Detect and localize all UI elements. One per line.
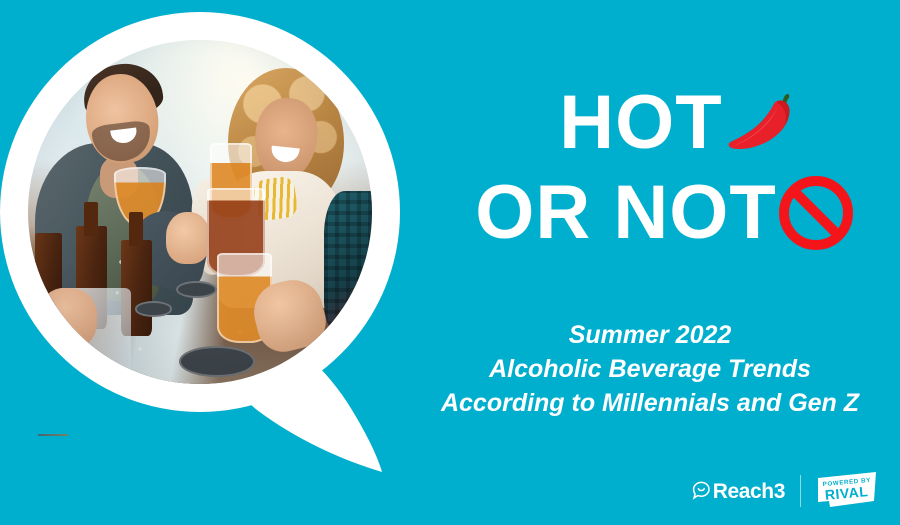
prohibited-icon	[777, 174, 855, 252]
headline-hot-text: HOT	[559, 88, 722, 158]
rival-logo: POWERED BY RIVAL	[816, 471, 878, 511]
subtitle-line-1: Summer 2022	[400, 318, 900, 352]
chili-pepper-icon	[725, 90, 799, 156]
slide-canvas: HOT OR NOT Summer 2022 Alcoholic Beverag…	[0, 0, 900, 525]
headline-line-2: OR NOT	[430, 174, 900, 252]
logo-lockup: Reach3 POWERED BY RIVAL	[692, 471, 878, 511]
reach3-logo: Reach3	[692, 481, 785, 502]
hero-photo	[28, 40, 372, 384]
headline-or-not-text: OR NOT	[475, 178, 777, 248]
reach3-wordmark: Reach3	[713, 481, 785, 502]
speech-bubble-smile-icon	[692, 481, 711, 500]
headline-block: HOT OR NOT	[430, 88, 900, 252]
logo-divider	[800, 475, 801, 507]
hero-speech-bubble	[0, 0, 440, 525]
photo-edge-artifact	[38, 434, 68, 436]
subtitle-line-3: According to Millennials and Gen Z	[400, 386, 900, 420]
headline-line-1: HOT	[430, 88, 900, 158]
subtitle-block: Summer 2022 Alcoholic Beverage Trends Ac…	[400, 318, 900, 420]
subtitle-line-2: Alcoholic Beverage Trends	[400, 352, 900, 386]
